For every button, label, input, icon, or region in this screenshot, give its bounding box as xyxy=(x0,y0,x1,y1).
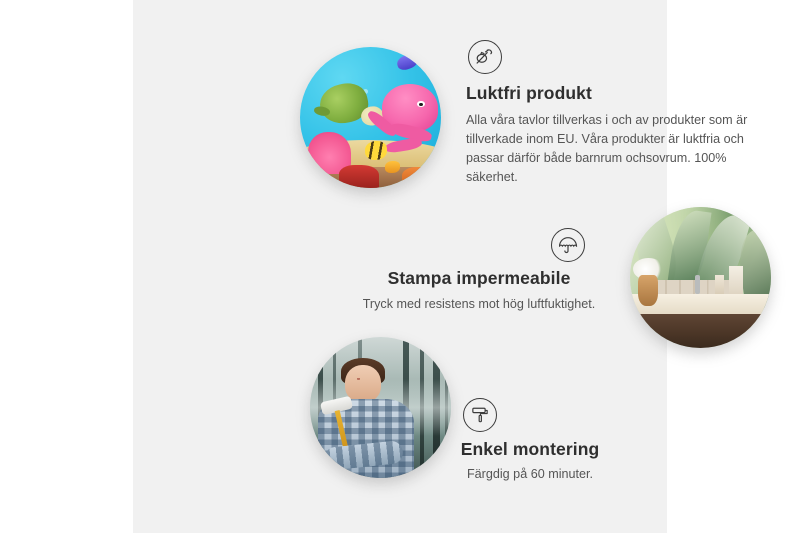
content-panel: Luktfri produkt Alla våra tavlor tillver… xyxy=(133,0,667,533)
feature-odorless: Luktfri produkt Alla våra tavlor tillver… xyxy=(466,40,756,187)
bathroom-scene-art xyxy=(630,207,771,348)
product-feature-banner: Luktfri produkt Alla våra tavlor tillver… xyxy=(0,0,800,533)
wood-vanity-cabinet xyxy=(630,314,771,348)
feature-description: Tryck med resistens mot hög luftfuktighe… xyxy=(338,295,620,314)
feature-title: Enkel montering xyxy=(395,439,665,460)
vase-icon xyxy=(638,275,658,306)
smile-icon xyxy=(357,378,360,379)
no-spray-odorless-icon xyxy=(468,40,502,74)
underwater-cartoon-photo xyxy=(300,47,441,188)
feature-title: Luktfri produkt xyxy=(466,83,756,104)
small-fish-icon xyxy=(385,161,401,172)
paint-roller-icon xyxy=(463,398,497,432)
feature-title: Stampa impermeabile xyxy=(338,268,620,289)
cabinet-handle xyxy=(741,340,748,346)
umbrella-waterproof-icon xyxy=(551,228,585,262)
bathroom-tropical-wallpaper-photo xyxy=(630,207,771,348)
feature-description: Alla våra tavlor tillverkas i och av pro… xyxy=(466,111,756,187)
feature-description: Färgdig på 60 minuter. xyxy=(395,465,665,484)
toiletry-bottle xyxy=(729,266,743,297)
octopus-eye-icon xyxy=(417,101,424,107)
orange-rock xyxy=(402,167,433,185)
feature-easy-install: Enkel montering Färgdig på 60 minuter. xyxy=(395,398,665,484)
red-rock xyxy=(339,165,378,188)
drawer-handle xyxy=(647,344,678,346)
faucet-icon xyxy=(695,275,701,295)
feature-waterproof: Stampa impermeabile Tryck med resistens … xyxy=(338,228,620,314)
woman-face xyxy=(345,365,380,402)
underwater-scene-art xyxy=(300,47,441,188)
